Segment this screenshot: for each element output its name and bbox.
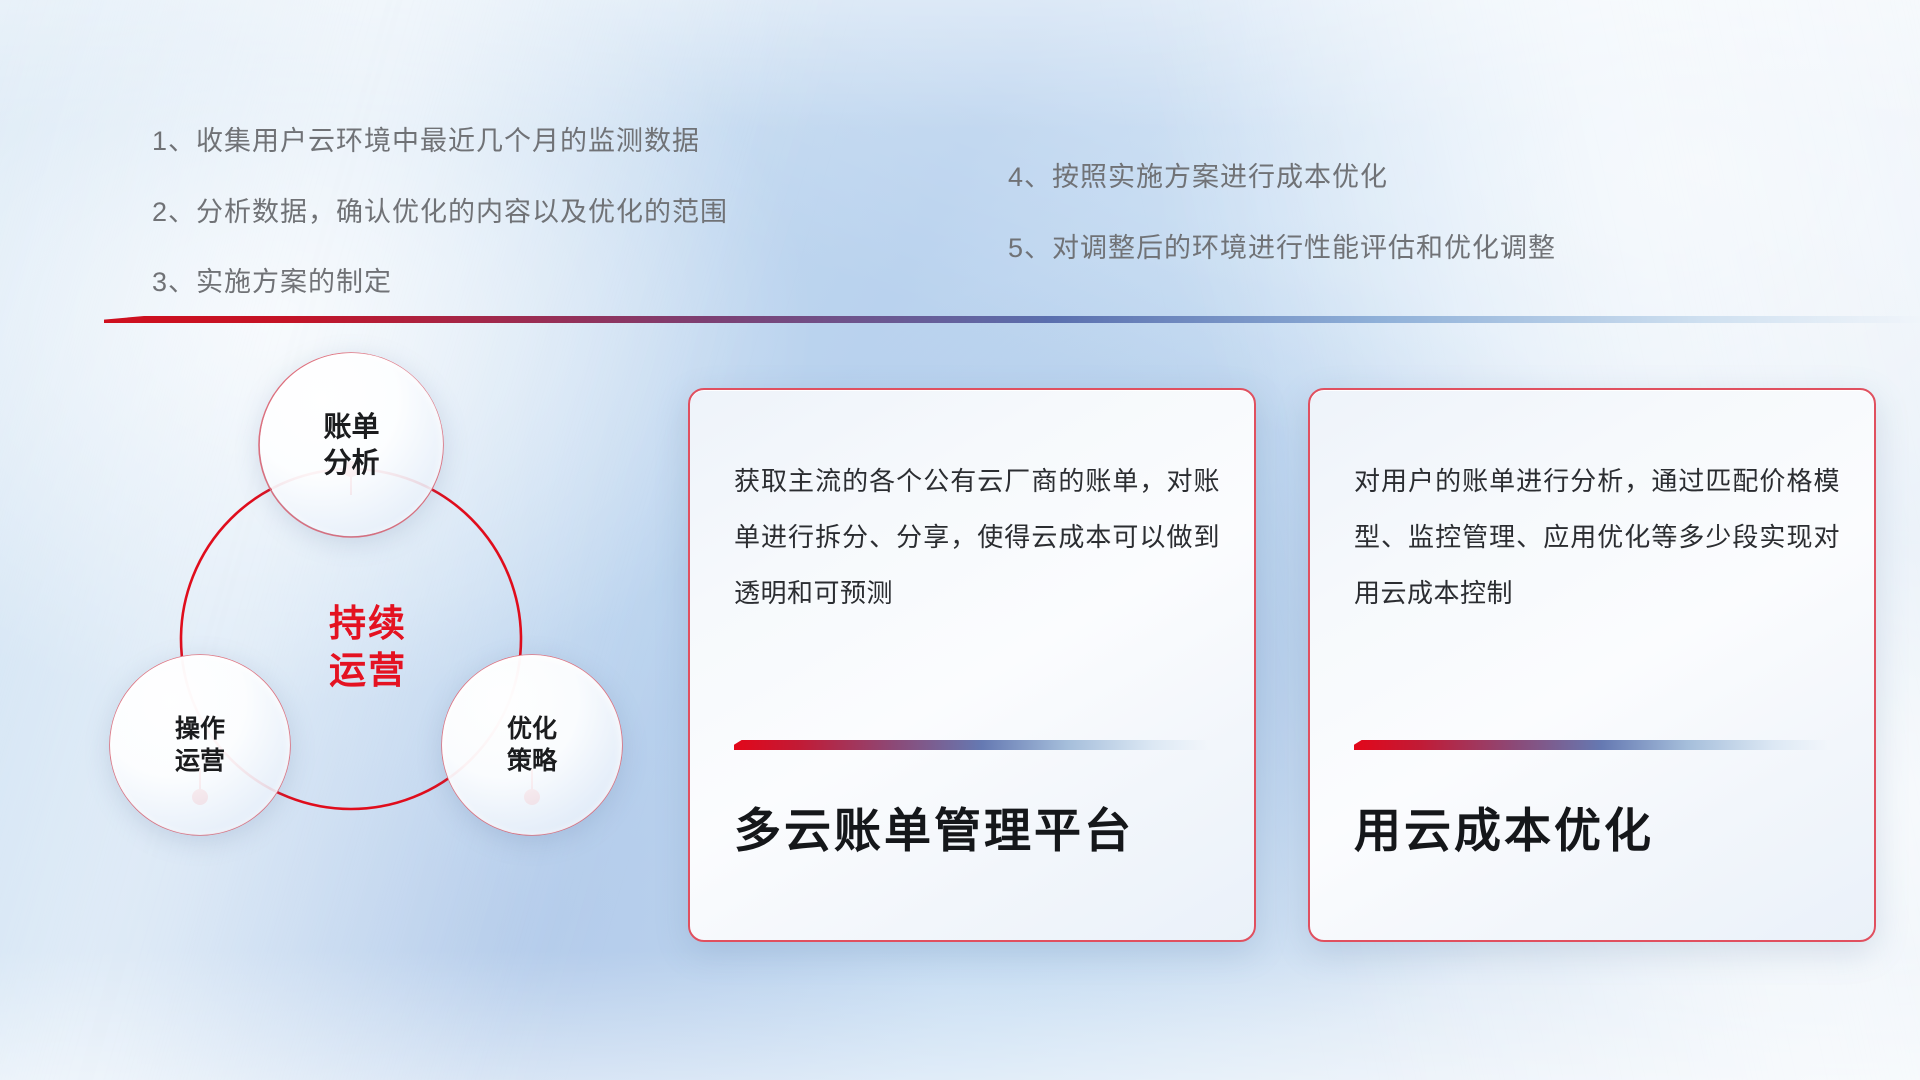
process-step-4: 4、按照实施方案进行成本优化 bbox=[1008, 155, 1388, 194]
venn-bubble-bl-line1: 操作 bbox=[175, 713, 225, 745]
feature-card-1-description: 获取主流的各个公有云厂商的账单，对账单进行拆分、分享，使得云成本可以做到透明和可… bbox=[734, 454, 1220, 622]
venn-center-label: 持续 运营 bbox=[268, 583, 468, 713]
venn-bubble-top-line1: 账单 bbox=[323, 409, 379, 445]
feature-card-2-divider bbox=[1354, 740, 1830, 750]
process-step-2: 2、分析数据，确认优化的内容以及优化的范围 bbox=[152, 190, 728, 229]
venn-bubble-top-line2: 分析 bbox=[323, 445, 379, 481]
venn-bubble-bl-line2: 运营 bbox=[175, 745, 225, 777]
venn-center-line1: 持续 bbox=[329, 601, 407, 648]
feature-card-2-title: 用云成本优化 bbox=[1354, 792, 1840, 861]
section-divider bbox=[104, 316, 1920, 323]
venn-bubble-operations[interactable]: 操作 运营 bbox=[110, 655, 290, 835]
process-step-3: 3、实施方案的制定 bbox=[152, 260, 392, 299]
venn-bubble-optimization-strategy[interactable]: 优化 策略 bbox=[442, 655, 622, 835]
process-step-1: 1、收集用户云环境中最近几个月的监测数据 bbox=[152, 119, 700, 158]
venn-center-line2: 运营 bbox=[329, 648, 407, 695]
venn-bubble-bottom-left-text: 操作 运营 bbox=[175, 713, 225, 777]
feature-card-1-title: 多云账单管理平台 bbox=[734, 792, 1220, 861]
venn-bubble-br-line1: 优化 bbox=[507, 713, 557, 745]
venn-center-text: 持续 运营 bbox=[329, 601, 407, 694]
section-divider-bar bbox=[104, 316, 1920, 323]
venn-bubble-br-line2: 策略 bbox=[507, 745, 557, 777]
process-step-list: 1、收集用户云环境中最近几个月的监测数据 2、分析数据，确认优化的内容以及优化的… bbox=[0, 0, 1920, 260]
venn-bubble-top-text: 账单 分析 bbox=[323, 409, 379, 481]
process-step-5: 5、对调整后的环境进行性能评估和优化调整 bbox=[1008, 226, 1556, 265]
venn-diagram: 账单 分析 操作 运营 优化 策略 持续 运营 bbox=[100, 345, 640, 945]
feature-card-1-divider bbox=[734, 740, 1210, 750]
feature-card-2-description: 对用户的账单进行分析，通过匹配价格模型、监控管理、应用优化等多少段实现对用云成本… bbox=[1354, 454, 1840, 622]
feature-card-multicloud-billing[interactable]: 获取主流的各个公有云厂商的账单，对账单进行拆分、分享，使得云成本可以做到透明和可… bbox=[688, 388, 1256, 942]
venn-bubble-billing-analysis[interactable]: 账单 分析 bbox=[260, 353, 443, 536]
feature-card-cost-optimization[interactable]: 对用户的账单进行分析，通过匹配价格模型、监控管理、应用优化等多少段实现对用云成本… bbox=[1308, 388, 1876, 942]
venn-bubble-bottom-right-text: 优化 策略 bbox=[507, 713, 557, 777]
